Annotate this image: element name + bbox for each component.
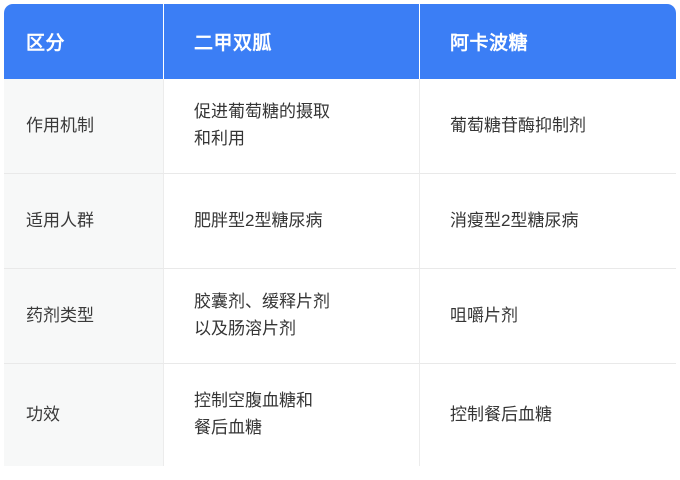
table-row: 功效 控制空腹血糖和 餐后血糖 控制餐后血糖: [4, 364, 676, 466]
table-header: 区分 二甲双胍 阿卡波糖: [4, 4, 676, 79]
cell-metformin: 胶囊剂、缓释片剂 以及肠溶片剂: [164, 269, 420, 364]
row-label-cell: 功效: [4, 364, 164, 466]
row-label-text: 适用人群: [26, 208, 153, 235]
cell-acarbose-text: 咀嚼片剂: [450, 303, 658, 330]
cell-acarbose: 咀嚼片剂: [420, 269, 676, 364]
row-label-text: 药剂类型: [26, 303, 153, 330]
table-body: 作用机制 促进葡萄糖的摄取 和利用 葡萄糖苷酶抑制剂 适用人群 肥胖型2型糖尿病…: [4, 79, 676, 466]
cell-metformin: 肥胖型2型糖尿病: [164, 174, 420, 269]
comparison-table-container: 区分 二甲双胍 阿卡波糖 作用机制 促进葡萄糖的摄取 和利用 葡萄糖苷酶抑制剂 …: [0, 0, 680, 480]
row-label-cell: 作用机制: [4, 79, 164, 174]
column-header-metformin: 二甲双胍: [164, 4, 420, 79]
cell-metformin-text: 胶囊剂、缓释片剂 以及肠溶片剂: [194, 289, 401, 343]
table-row: 药剂类型 胶囊剂、缓释片剂 以及肠溶片剂 咀嚼片剂: [4, 269, 676, 364]
cell-acarbose-text: 控制餐后血糖: [450, 402, 658, 429]
cell-acarbose: 控制餐后血糖: [420, 364, 676, 466]
table-row: 适用人群 肥胖型2型糖尿病 消瘦型2型糖尿病: [4, 174, 676, 269]
row-label-text: 作用机制: [26, 113, 153, 140]
cell-metformin-text: 肥胖型2型糖尿病: [194, 208, 401, 235]
cell-acarbose: 消瘦型2型糖尿病: [420, 174, 676, 269]
row-label-cell: 药剂类型: [4, 269, 164, 364]
cell-metformin: 促进葡萄糖的摄取 和利用: [164, 79, 420, 174]
row-label-text: 功效: [26, 402, 153, 429]
cell-metformin: 控制空腹血糖和 餐后血糖: [164, 364, 420, 466]
comparison-table: 区分 二甲双胍 阿卡波糖 作用机制 促进葡萄糖的摄取 和利用 葡萄糖苷酶抑制剂 …: [4, 4, 676, 466]
row-label-cell: 适用人群: [4, 174, 164, 269]
cell-metformin-text: 控制空腹血糖和 餐后血糖: [194, 388, 401, 442]
cell-metformin-text: 促进葡萄糖的摄取 和利用: [194, 99, 401, 153]
table-header-row: 区分 二甲双胍 阿卡波糖: [4, 4, 676, 79]
cell-acarbose-text: 葡萄糖苷酶抑制剂: [450, 113, 658, 140]
column-header-key: 区分: [4, 4, 164, 79]
cell-acarbose: 葡萄糖苷酶抑制剂: [420, 79, 676, 174]
cell-acarbose-text: 消瘦型2型糖尿病: [450, 208, 658, 235]
column-header-acarbose: 阿卡波糖: [420, 4, 676, 79]
table-row: 作用机制 促进葡萄糖的摄取 和利用 葡萄糖苷酶抑制剂: [4, 79, 676, 174]
